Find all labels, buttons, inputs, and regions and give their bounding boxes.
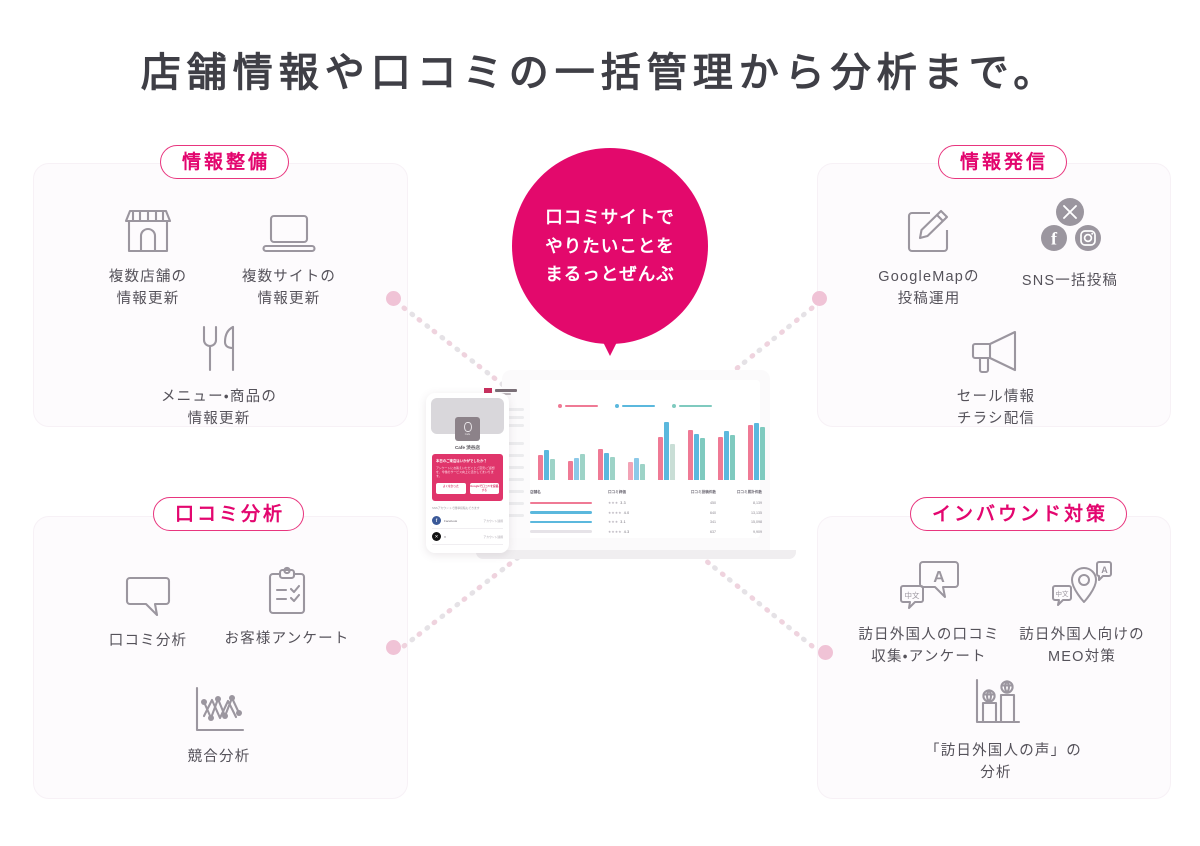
survey-card: 本日のご来店はいかがでしたか？ アンケートにお答えいただくとご意見・ご感想を、今… [432, 454, 503, 501]
dashboard-bar-chart [534, 418, 756, 480]
sns-link-row[interactable]: f Facebook アカウント連携 [432, 513, 503, 529]
sns-note: SNSアカウントで簡単投稿もできます [432, 506, 480, 510]
infographic-canvas: 店舗情報や口コミの一括管理から分析まで。 情報整備 [0, 0, 1200, 846]
phone-mockup: Cafe Cafe 渋谷店 本日のご来店はいかがでしたか？ アンケートにお答えい… [426, 393, 509, 553]
legend-item [558, 404, 598, 408]
connector-anchor-dot [386, 640, 401, 655]
table-row: ★★★3.3 450 8,139 [530, 501, 762, 505]
connector-anchor-dot [818, 645, 833, 660]
sns-link-list: f Facebook アカウント連携 ✕ X アカウント連携 [432, 513, 503, 545]
table-row: ★★★★4.0 640 13,135 [530, 511, 762, 515]
dashboard-table: 店舗名 口コミ評価 口コミ投稿件数 口コミ累計件数 ★★★3.3 450 8,1… [530, 490, 762, 539]
connector-anchor-dot [812, 291, 827, 306]
table-row: ★★★3.1 341 15,098 [530, 520, 762, 524]
survey-title: 本日のご来店はいかがでしたか？ [436, 458, 499, 463]
center-bubble: 口コミサイトで やりたいことを まるっとぜんぶ [512, 148, 708, 344]
legend-item [615, 404, 655, 408]
device-mockup: 店舗名 口コミ評価 口コミ投稿件数 口コミ累計件数 ★★★3.3 450 8,1… [418, 360, 798, 565]
x-icon: ✕ [432, 532, 441, 541]
sns-link-row[interactable]: ✕ X アカウント連携 [432, 529, 503, 545]
survey-positive-button[interactable]: Googleで口コミを投稿する [470, 483, 500, 495]
survey-negative-button[interactable]: よくなかった [436, 483, 466, 495]
shop-name: Cafe 渋谷店 [426, 445, 509, 451]
chart-legend [558, 404, 712, 408]
survey-body: アンケートにお答えいただくとご意見・ご感想を、今後のサービス向上に活かしてまいり… [436, 466, 499, 479]
shop-logo-icon: Cafe [455, 417, 480, 441]
facebook-icon: f [432, 516, 441, 525]
table-header-row: 店舗名 口コミ評価 口コミ投稿件数 口コミ累計件数 [530, 490, 762, 495]
table-row: ★★★★4.3 637 9,909 [530, 530, 762, 534]
legend-item [672, 404, 712, 408]
center-bubble-text: 口コミサイトで やりたいことを まるっとぜんぶ [545, 203, 675, 288]
connector-anchor-dot [386, 291, 401, 306]
laptop-base [476, 550, 796, 559]
